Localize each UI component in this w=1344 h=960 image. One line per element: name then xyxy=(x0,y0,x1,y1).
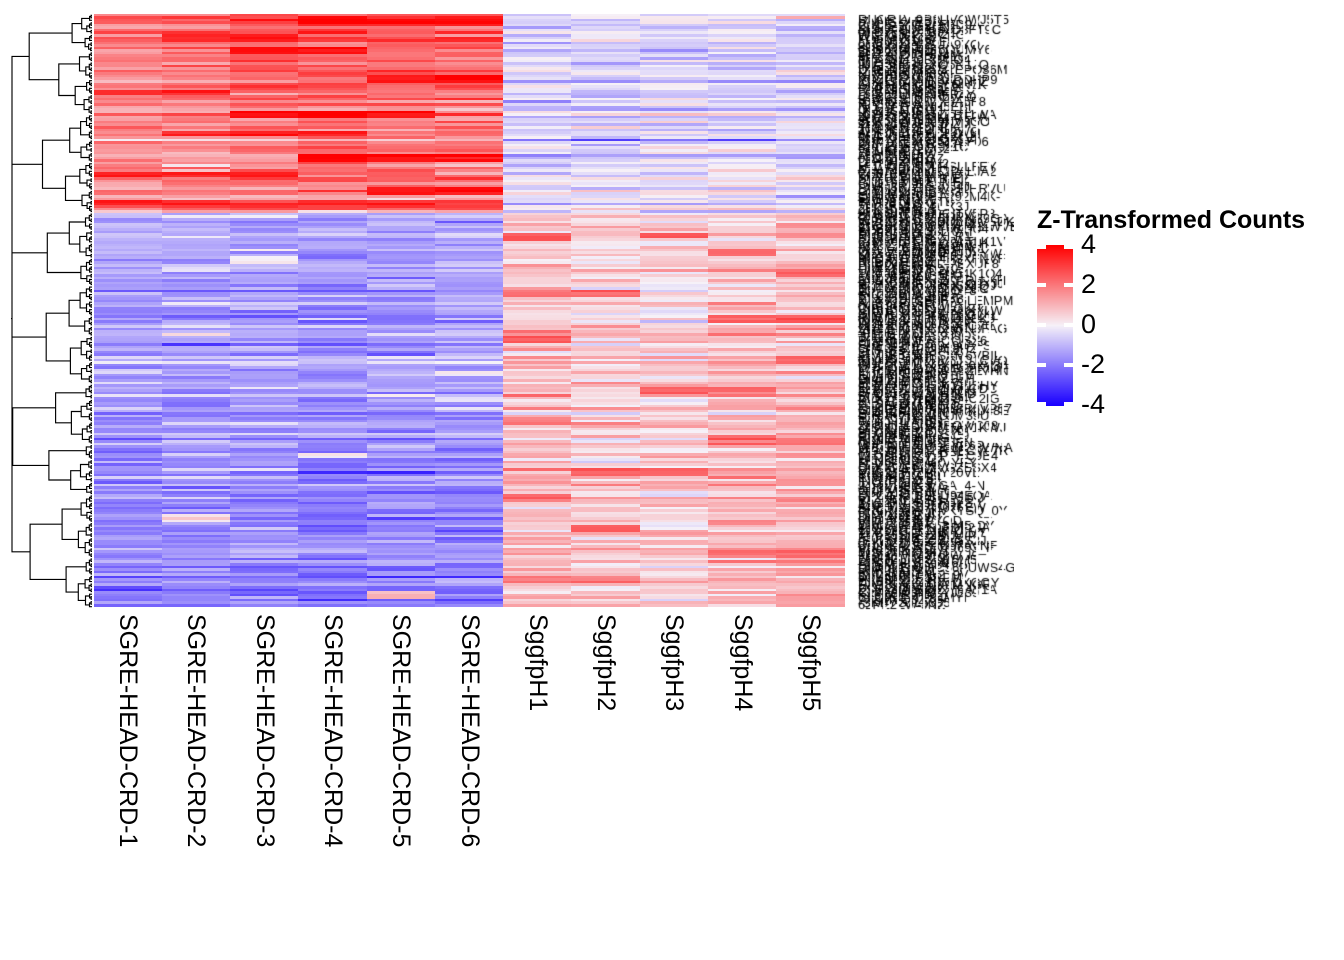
row-labels-block xyxy=(857,5,1014,615)
column-label-1: SGRE-HEAD-CRD-1 xyxy=(115,614,141,914)
colorbar xyxy=(1037,245,1073,406)
column-label-9: SggfpH3 xyxy=(661,614,687,914)
heatmap-canvas xyxy=(94,14,845,607)
color-legend: Z-Transformed Counts 420-2-4 xyxy=(1035,206,1335,416)
colorbar-tick xyxy=(1037,245,1046,249)
column-label-10: SggfpH4 xyxy=(730,614,756,914)
column-label-8: SggfpH2 xyxy=(593,614,619,914)
column-label-6: SGRE-HEAD-CRD-6 xyxy=(457,614,483,914)
colorbar-tick xyxy=(1037,402,1046,406)
row-labels-canvas xyxy=(857,5,1014,615)
heatmap-figure: SGRE-HEAD-CRD-1SGRE-HEAD-CRD-2SGRE-HEAD-… xyxy=(0,0,1344,960)
colorbar-tick xyxy=(1064,363,1073,367)
legend-title: Z-Transformed Counts xyxy=(1037,206,1305,235)
colorbar-tick xyxy=(1064,245,1073,249)
column-label-7: SggfpH1 xyxy=(525,614,551,914)
colorbar-tick xyxy=(1037,283,1046,287)
colorbar-tick xyxy=(1064,283,1073,287)
column-label-11: SggfpH5 xyxy=(798,614,824,914)
row-dendrogram xyxy=(10,6,92,614)
colorbar-tick-label: -4 xyxy=(1081,391,1105,418)
column-label-3: SGRE-HEAD-CRD-3 xyxy=(252,614,278,914)
colorbar-tick xyxy=(1064,323,1073,327)
column-label-2: SGRE-HEAD-CRD-2 xyxy=(183,614,209,914)
colorbar-tick xyxy=(1064,402,1073,406)
colorbar-tick-label: 4 xyxy=(1081,231,1096,258)
colorbar-tick-label: 0 xyxy=(1081,311,1096,338)
colorbar-tick-label: -2 xyxy=(1081,351,1105,378)
colorbar-tick xyxy=(1037,363,1046,367)
dendrogram-branches xyxy=(11,15,92,606)
column-label-5: SGRE-HEAD-CRD-5 xyxy=(388,614,414,914)
heatmap-grid xyxy=(94,14,845,607)
colorbar-tick-label: 2 xyxy=(1081,271,1096,298)
colorbar-tick xyxy=(1037,323,1046,327)
column-label-4: SGRE-HEAD-CRD-4 xyxy=(320,614,346,914)
